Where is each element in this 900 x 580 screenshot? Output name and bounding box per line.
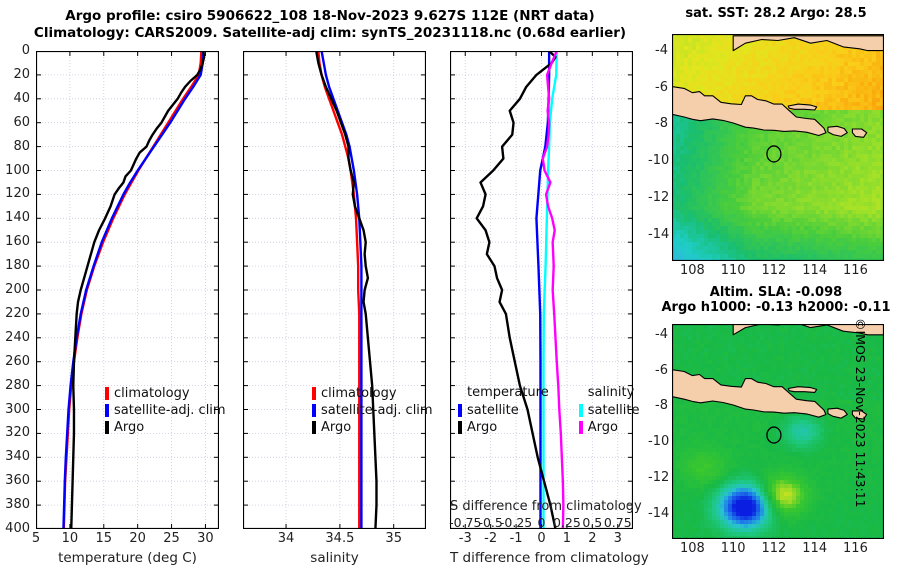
- salinity-panel[interactable]: [243, 51, 426, 529]
- map-y-tick-label: -6: [648, 363, 668, 378]
- sst-map-canvas[interactable]: [672, 34, 884, 261]
- legend-item: satellite: [458, 402, 549, 419]
- x-tick-label: 34.5: [325, 531, 354, 546]
- map-y-tick-label: -12: [648, 190, 668, 205]
- legend-item: Argo: [105, 419, 226, 436]
- title-line-1: Argo profile: csiro 5906622_108 18-Nov-2…: [0, 8, 660, 25]
- map-y-tick-label: -14: [648, 227, 668, 242]
- y-tick-label: 360: [0, 473, 30, 488]
- sla-map-y-ticklabels: -4-6-8-10-12-14: [648, 324, 670, 539]
- salinity-x-ticklabels: 3434.535: [243, 531, 426, 547]
- x-tick-label: 15: [95, 531, 112, 546]
- legend-label: satellite-adj. clim: [114, 403, 226, 418]
- map-x-tick-label: 108: [680, 263, 705, 278]
- y-tick-label: 380: [0, 497, 30, 512]
- y-tick-label: 40: [0, 91, 30, 106]
- map-y-tick-label: -8: [648, 398, 668, 413]
- x-tick-label: 35: [385, 531, 402, 546]
- difference-x-ticklabels: -3-2-10123: [450, 531, 633, 547]
- legend-item: satellite: [579, 402, 640, 419]
- y-tick-label: 100: [0, 163, 30, 178]
- x-tick-label: 20: [129, 531, 146, 546]
- map-x-tick-label: 114: [802, 263, 827, 278]
- y-tick-label: 340: [0, 449, 30, 464]
- legend-item: Argo: [312, 419, 433, 436]
- y-tick-label: 20: [0, 67, 30, 82]
- map-x-tick-label: 110: [721, 263, 746, 278]
- legend-item: satellite-adj. clim: [105, 402, 226, 419]
- y-tick-label: 80: [0, 139, 30, 154]
- legend-item: satellite-adj. clim: [312, 402, 433, 419]
- x-tick-label: 34: [278, 531, 295, 546]
- legend-color-swatch: [458, 404, 462, 417]
- sla-map-x-ticklabels: 108110112114116: [672, 541, 884, 557]
- sla-title-line-1: Altim. SLA: -0.098: [655, 285, 897, 300]
- x-tick-label: 10: [62, 531, 79, 546]
- y-tick-label: 320: [0, 425, 30, 440]
- sst-map[interactable]: [672, 34, 884, 261]
- x-tick-label: 2: [588, 531, 596, 546]
- salinity-diff-tick-label: 0.75: [604, 515, 632, 530]
- map-y-tick-label: -10: [648, 153, 668, 168]
- legend-label: satellite-adj. clim: [321, 403, 433, 418]
- legend-color-swatch: [579, 404, 583, 417]
- temperature-x-axis-label: temperature (deg C): [36, 550, 219, 566]
- temperature-y-ticklabels: 0204060801001201401601802002202402602803…: [0, 51, 34, 529]
- salinity-diff-tick-label: 0.25: [553, 515, 581, 530]
- legend-label: satellite: [467, 403, 519, 418]
- x-tick-label: 25: [163, 531, 180, 546]
- map-y-tick-label: -12: [648, 470, 668, 485]
- y-tick-label: 140: [0, 210, 30, 225]
- x-tick-label: -2: [484, 531, 497, 546]
- difference-salinity-axis-label: S difference from climatology: [450, 499, 640, 514]
- x-tick-label: 3: [614, 531, 622, 546]
- sla-title-line-2: Argo h1000: -0.13 h2000: -0.11: [655, 300, 897, 315]
- salinity-diff-tick-label: -0.25: [500, 515, 532, 530]
- legend-color-swatch: [312, 404, 316, 417]
- map-x-tick-label: 116: [843, 541, 868, 556]
- y-tick-label: 220: [0, 306, 30, 321]
- legend-item: Argo: [579, 419, 640, 436]
- x-tick-label: 5: [32, 531, 40, 546]
- sst-map-x-ticklabels: 108110112114116: [672, 263, 884, 279]
- x-tick-label: -1: [510, 531, 523, 546]
- legend-color-swatch: [105, 404, 109, 417]
- sla-map-title: Altim. SLA: -0.098 Argo h1000: -0.13 h20…: [655, 285, 897, 315]
- difference-panel[interactable]: [450, 51, 633, 529]
- map-x-tick-label: 112: [762, 541, 787, 556]
- legend-color-swatch: [458, 421, 462, 434]
- legend-group-heading: temperature: [467, 385, 549, 402]
- map-y-tick-label: -8: [648, 116, 668, 131]
- map-x-tick-label: 114: [802, 541, 827, 556]
- legend-color-swatch: [579, 421, 583, 434]
- salinity-diff-tick-label: 0.5: [582, 515, 602, 530]
- legend-color-swatch: [312, 387, 316, 400]
- legend-color-swatch: [105, 421, 109, 434]
- map-y-tick-label: -4: [648, 43, 668, 58]
- legend-color-swatch: [105, 387, 109, 400]
- y-tick-label: 400: [0, 521, 30, 536]
- temperature-plot-area[interactable]: [36, 51, 219, 529]
- map-x-tick-label: 112: [762, 263, 787, 278]
- difference-x-axis-label: T difference from climatology: [450, 550, 633, 566]
- legend-item: climatology: [105, 385, 226, 402]
- y-tick-label: 280: [0, 378, 30, 393]
- y-tick-label: 120: [0, 186, 30, 201]
- y-tick-label: 300: [0, 402, 30, 417]
- legend-group: temperaturesatelliteArgo: [458, 385, 549, 436]
- title-line-2: Climatology: CARS2009. Satellite-adj cli…: [0, 25, 660, 42]
- temperature-panel[interactable]: [36, 51, 219, 529]
- x-tick-label: 30: [197, 531, 214, 546]
- legend-label: climatology: [321, 386, 397, 401]
- map-x-tick-label: 110: [721, 541, 746, 556]
- salinity-plot-area[interactable]: [243, 51, 426, 529]
- legend-label: Argo: [321, 420, 351, 435]
- legend-label: Argo: [588, 420, 618, 435]
- x-tick-label: 1: [563, 531, 571, 546]
- page-title: Argo profile: csiro 5906622_108 18-Nov-2…: [0, 8, 660, 42]
- legend-label: Argo: [467, 420, 497, 435]
- map-y-tick-label: -6: [648, 80, 668, 95]
- map-x-tick-label: 108: [680, 541, 705, 556]
- temperature-legend: climatologysatellite-adj. climArgo: [105, 385, 226, 436]
- salinity-diff-tick-label: -0.75: [449, 515, 481, 530]
- y-tick-label: 200: [0, 282, 30, 297]
- map-y-tick-label: -4: [648, 327, 668, 342]
- y-tick-label: 60: [0, 115, 30, 130]
- difference-legend: temperaturesatelliteArgosalinitysatellit…: [458, 385, 633, 436]
- salinity-diff-tick-label: 0: [538, 515, 546, 530]
- imos-credit: ©IMOS 23-Nov-2023 11:43:11: [853, 318, 868, 538]
- difference-salinity-ticklabels: -0.75-0.5-0.2500.250.50.75: [450, 515, 633, 531]
- y-tick-label: 0: [0, 43, 30, 58]
- map-y-tick-label: -10: [648, 434, 668, 449]
- legend-group-heading: salinity: [588, 385, 640, 402]
- legend-group: salinitysatelliteArgo: [579, 385, 640, 436]
- legend-item: climatology: [312, 385, 433, 402]
- salinity-x-axis-label: salinity: [243, 550, 426, 566]
- temperature-x-ticklabels: 51015202530: [36, 531, 219, 547]
- salinity-legend: climatologysatellite-adj. climArgo: [312, 385, 433, 436]
- sst-map-title: sat. SST: 28.2 Argo: 28.5: [660, 6, 892, 21]
- x-tick-label: 0: [537, 531, 545, 546]
- map-y-tick-label: -14: [648, 506, 668, 521]
- y-tick-label: 160: [0, 234, 30, 249]
- sst-map-y-ticklabels: -4-6-8-10-12-14: [648, 34, 670, 261]
- legend-label: climatology: [114, 386, 190, 401]
- x-tick-label: -3: [459, 531, 472, 546]
- legend-item: Argo: [458, 419, 549, 436]
- legend-color-swatch: [312, 421, 316, 434]
- legend-label: Argo: [114, 420, 144, 435]
- y-tick-label: 260: [0, 354, 30, 369]
- difference-plot-area[interactable]: [450, 51, 633, 529]
- y-tick-label: 240: [0, 330, 30, 345]
- map-x-tick-label: 116: [843, 263, 868, 278]
- legend-label: satellite: [588, 403, 640, 418]
- y-tick-label: 180: [0, 258, 30, 273]
